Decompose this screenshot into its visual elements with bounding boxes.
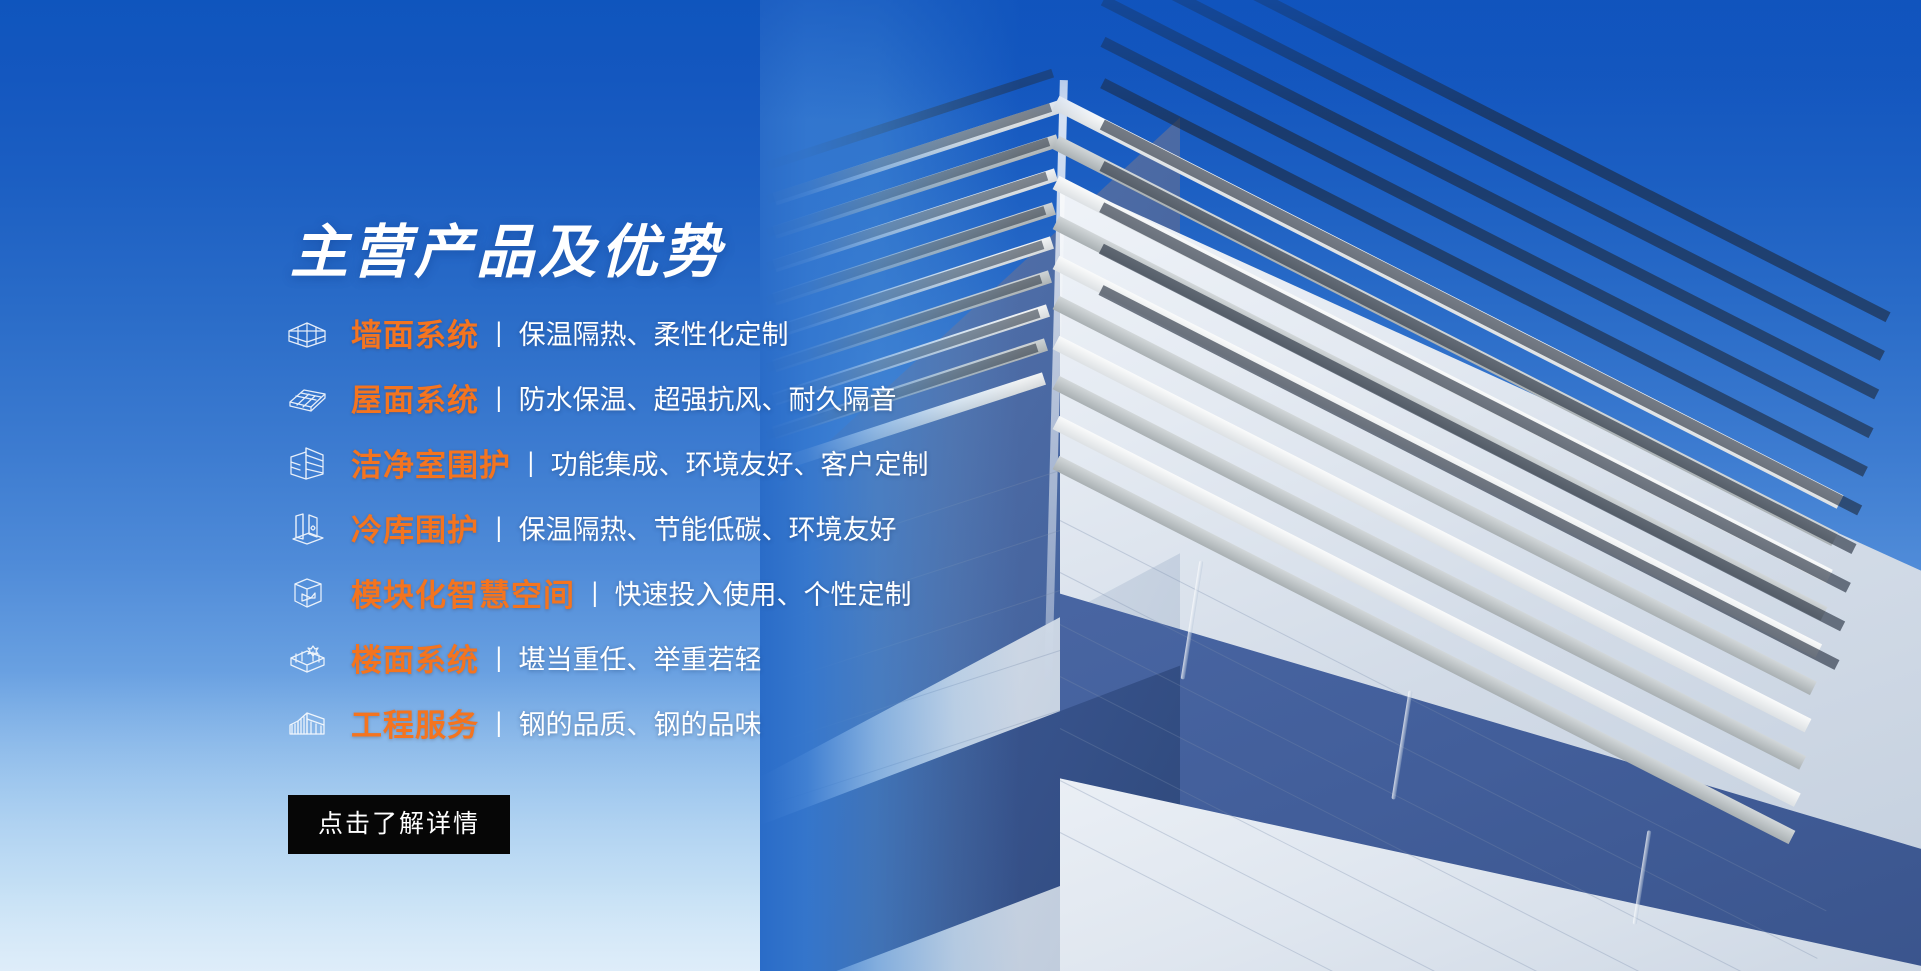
product-category-label: 冷库围护 bbox=[351, 505, 479, 550]
product-row-text: 洁净室围护|功能集成、环境友好、客户定制 bbox=[351, 440, 929, 485]
page-title: 主营产品及优势 bbox=[290, 205, 724, 289]
row-separator: | bbox=[497, 707, 501, 738]
row-separator: | bbox=[529, 447, 533, 478]
coldstorage-icon bbox=[285, 506, 329, 550]
row-separator: | bbox=[497, 642, 501, 673]
product-category-label: 工程服务 bbox=[351, 700, 479, 745]
product-row-text: 楼面系统|堪当重任、举重若轻 bbox=[351, 635, 762, 680]
row-separator: | bbox=[497, 382, 501, 413]
product-description: 保温隔热、节能低碳、环境友好 bbox=[519, 508, 897, 547]
product-row[interactable]: 墙面系统|保温隔热、柔性化定制 bbox=[285, 300, 1005, 365]
row-separator: | bbox=[497, 317, 501, 348]
hero-banner: 主营产品及优势 墙面系统|保温隔热、柔性化定制屋面系统|防水保温、超强抗风、耐久… bbox=[0, 0, 1921, 971]
product-row-text: 屋面系统|防水保温、超强抗风、耐久隔音 bbox=[351, 375, 897, 420]
product-row-text: 模块化智慧空间|快速投入使用、个性定制 bbox=[351, 570, 912, 615]
product-row[interactable]: 工程服务|钢的品质、钢的品味 bbox=[285, 690, 1005, 755]
product-row-text: 墙面系统|保温隔热、柔性化定制 bbox=[351, 310, 789, 355]
product-description: 防水保温、超强抗风、耐久隔音 bbox=[519, 378, 897, 417]
product-category-label: 屋面系统 bbox=[351, 375, 479, 420]
product-description: 功能集成、环境友好、客户定制 bbox=[551, 443, 929, 482]
product-description: 堪当重任、举重若轻 bbox=[519, 638, 762, 677]
product-row[interactable]: 冷库围护|保温隔热、节能低碳、环境友好 bbox=[285, 495, 1005, 560]
product-row[interactable]: 屋面系统|防水保温、超强抗风、耐久隔音 bbox=[285, 365, 1005, 430]
product-category-label: 墙面系统 bbox=[351, 310, 479, 355]
product-row[interactable]: 楼面系统|堪当重任、举重若轻 bbox=[285, 625, 1005, 690]
product-description: 保温隔热、柔性化定制 bbox=[519, 313, 789, 352]
row-separator: | bbox=[497, 512, 501, 543]
row-separator: | bbox=[593, 577, 597, 608]
cleanroom-building-icon bbox=[285, 441, 329, 485]
roof-panel-icon bbox=[285, 376, 329, 420]
product-description: 快速投入使用、个性定制 bbox=[615, 573, 912, 612]
learn-more-button[interactable]: 点击了解详情 bbox=[288, 795, 510, 854]
product-list: 墙面系统|保温隔热、柔性化定制屋面系统|防水保温、超强抗风、耐久隔音洁净室围护|… bbox=[285, 300, 1005, 755]
product-category-label: 洁净室围护 bbox=[351, 440, 511, 485]
product-row-text: 工程服务|钢的品质、钢的品味 bbox=[351, 700, 762, 745]
product-category-label: 楼面系统 bbox=[351, 635, 479, 680]
factory-service-icon bbox=[285, 701, 329, 745]
wall-frame-icon bbox=[285, 311, 329, 355]
product-description: 钢的品质、钢的品味 bbox=[519, 703, 762, 742]
modular-cube-icon bbox=[285, 571, 329, 615]
hero-content: 主营产品及优势 墙面系统|保温隔热、柔性化定制屋面系统|防水保温、超强抗风、耐久… bbox=[0, 0, 1000, 971]
product-category-label: 模块化智慧空间 bbox=[351, 570, 575, 615]
product-row[interactable]: 洁净室围护|功能集成、环境友好、客户定制 bbox=[285, 430, 1005, 495]
product-row[interactable]: 模块化智慧空间|快速投入使用、个性定制 bbox=[285, 560, 1005, 625]
product-row-text: 冷库围护|保温隔热、节能低碳、环境友好 bbox=[351, 505, 897, 550]
floor-deck-icon bbox=[285, 636, 329, 680]
